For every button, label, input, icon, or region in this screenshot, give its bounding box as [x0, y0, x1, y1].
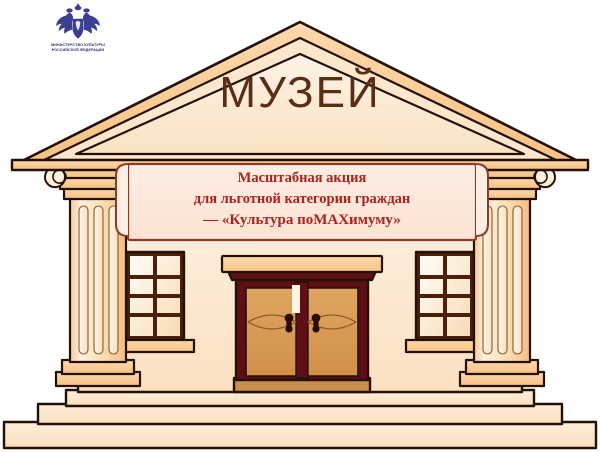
museum-building-graphic [0, 0, 600, 453]
promo-banner [116, 164, 488, 240]
pediment-roof [12, 22, 588, 170]
museum-illustration: Министерство культуры Российской Федерац… [0, 0, 600, 453]
window-right [406, 252, 482, 352]
museum-entrance-door [222, 256, 382, 392]
window-left [118, 252, 194, 352]
building-steps [4, 390, 596, 448]
